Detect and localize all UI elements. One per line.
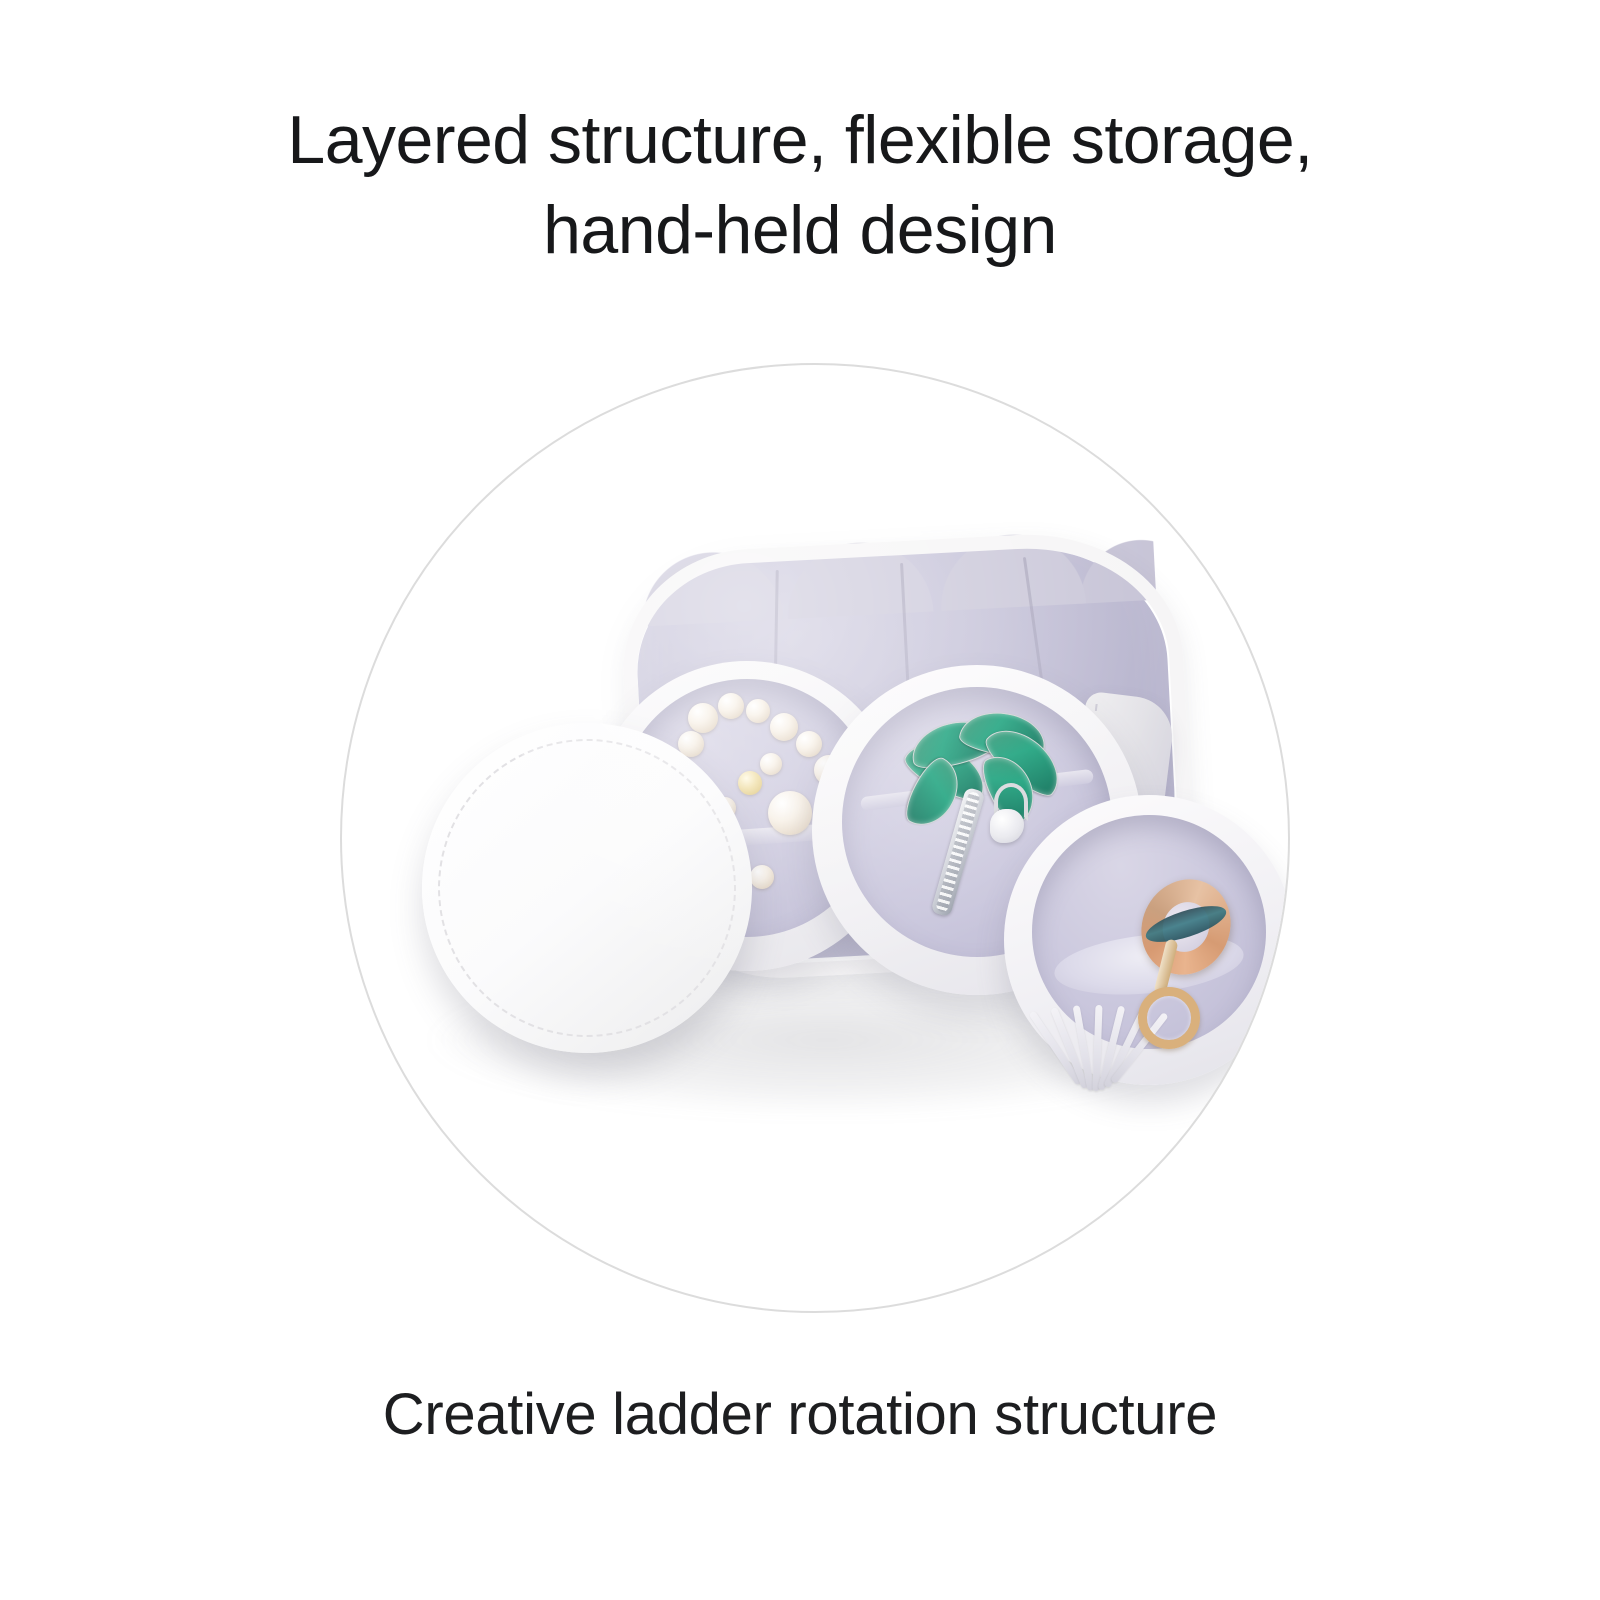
pearl (718, 693, 744, 719)
product-feature-card: Layered structure, flexible storage, han… (0, 0, 1600, 1600)
gold-bead (738, 771, 762, 795)
gold-keyring (1102, 965, 1222, 1105)
keyring-ring (1138, 987, 1200, 1049)
headline-line-1: Layered structure, flexible storage, (287, 102, 1312, 178)
pearl-large (768, 791, 812, 835)
pearl (760, 753, 782, 775)
lid-stitching (428, 729, 746, 1047)
pearl (750, 865, 774, 889)
earring-drop (990, 809, 1024, 843)
pearl (746, 699, 770, 723)
page-title: Layered structure, flexible storage, han… (0, 96, 1600, 276)
headline-line-2: hand-held design (543, 192, 1057, 268)
product-photo (342, 365, 1288, 1311)
caption-text: Creative ladder rotation structure (383, 1382, 1217, 1447)
pearl (796, 731, 822, 757)
product-photo-frame (340, 363, 1290, 1313)
pearl (770, 713, 798, 741)
earring (978, 783, 1040, 853)
caption: Creative ladder rotation structure (0, 1380, 1600, 1450)
pearl (688, 703, 718, 733)
